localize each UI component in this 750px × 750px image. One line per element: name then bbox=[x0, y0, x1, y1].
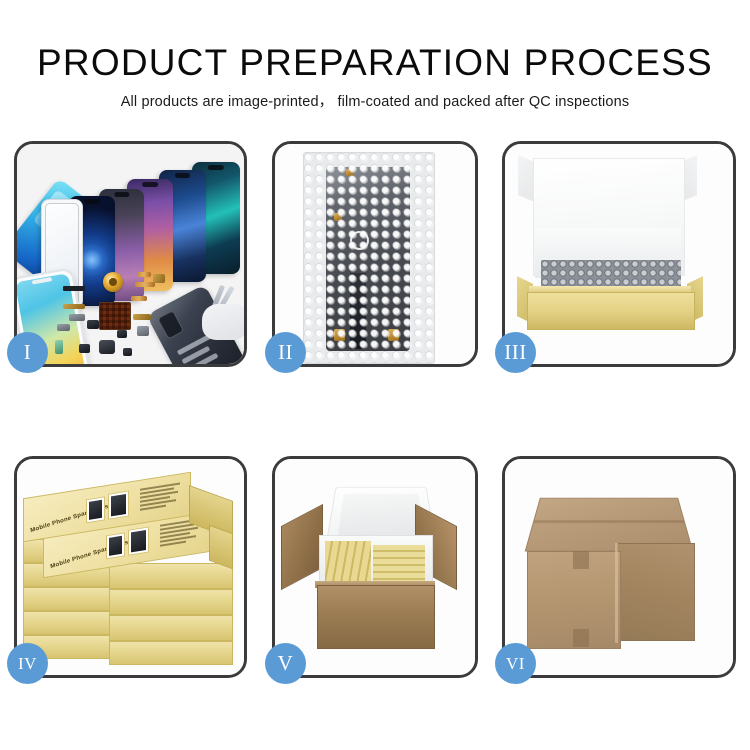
box-spec-text bbox=[140, 482, 184, 513]
box-window bbox=[128, 527, 149, 556]
flex-cable-icon bbox=[153, 274, 165, 283]
carton-tape bbox=[573, 551, 589, 569]
step-5-image bbox=[275, 459, 475, 675]
process-step-panel-1: I bbox=[14, 141, 247, 367]
step-badge-3: III bbox=[495, 332, 536, 373]
speaker-coil-icon bbox=[103, 272, 123, 292]
flex-cable-icon bbox=[133, 314, 151, 320]
flex-cable-icon bbox=[135, 282, 155, 287]
chip-grid-icon bbox=[99, 302, 131, 330]
flex-cable-icon bbox=[63, 304, 85, 309]
metal-bracket-icon bbox=[69, 314, 85, 321]
bubble-highlight-texture bbox=[304, 153, 434, 363]
carton-body bbox=[317, 585, 435, 649]
carton-tape bbox=[573, 629, 589, 647]
box-window bbox=[106, 532, 125, 559]
speaker-module-icon bbox=[99, 340, 115, 354]
stacked-box bbox=[23, 611, 111, 635]
ic-chip-icon bbox=[117, 330, 127, 338]
process-step-panel-4: Mobile Phone Spare Parts Mobile Phone Sp… bbox=[14, 456, 247, 678]
metal-bracket-icon bbox=[137, 326, 149, 336]
step-4-image: Mobile Phone Spare Parts Mobile Phone Sp… bbox=[17, 459, 244, 675]
ic-chip-icon bbox=[123, 348, 132, 356]
step-6-image bbox=[505, 459, 733, 675]
process-step-panel-6: VI bbox=[502, 456, 736, 678]
box-stack: Mobile Phone Spare Parts Mobile Phone Sp… bbox=[17, 459, 244, 675]
stacked-box bbox=[109, 641, 233, 665]
box-front-yellow bbox=[527, 292, 695, 330]
box-window bbox=[108, 491, 129, 520]
ic-chip-icon bbox=[87, 320, 99, 329]
process-step-panel-2: II bbox=[272, 141, 478, 367]
stacked-box bbox=[109, 615, 233, 641]
bubble-wrap-bag bbox=[303, 152, 435, 364]
process-step-panel-3: III bbox=[502, 141, 736, 367]
process-step-grid: I II bbox=[0, 0, 750, 750]
packed-boxes bbox=[325, 541, 425, 585]
step-2-image bbox=[275, 144, 475, 364]
step-1-image bbox=[17, 144, 244, 364]
step-3-image bbox=[505, 144, 733, 364]
carton-side-face bbox=[617, 543, 695, 641]
stacked-box bbox=[23, 587, 111, 611]
process-step-panel-5: V bbox=[272, 456, 478, 678]
box-window bbox=[86, 496, 105, 523]
stacked-box bbox=[109, 563, 233, 589]
step-badge-2: II bbox=[265, 332, 306, 373]
flex-cable-icon bbox=[137, 272, 151, 277]
earpiece-bar-icon bbox=[63, 286, 85, 291]
step-badge-5: V bbox=[265, 643, 306, 684]
step-badge-6: VI bbox=[495, 643, 536, 684]
pcb-board-icon bbox=[55, 340, 63, 354]
stacked-box bbox=[109, 589, 233, 615]
ic-chip-icon bbox=[79, 344, 90, 353]
step-badge-4: IV bbox=[7, 643, 48, 684]
metal-bracket-icon bbox=[57, 324, 70, 331]
tweezers-icon bbox=[202, 284, 244, 342]
carton-flap-left bbox=[281, 504, 323, 590]
flex-cable-icon bbox=[131, 296, 147, 301]
carton-edge-highlight bbox=[615, 543, 618, 643]
step-badge-1: I bbox=[7, 332, 48, 373]
